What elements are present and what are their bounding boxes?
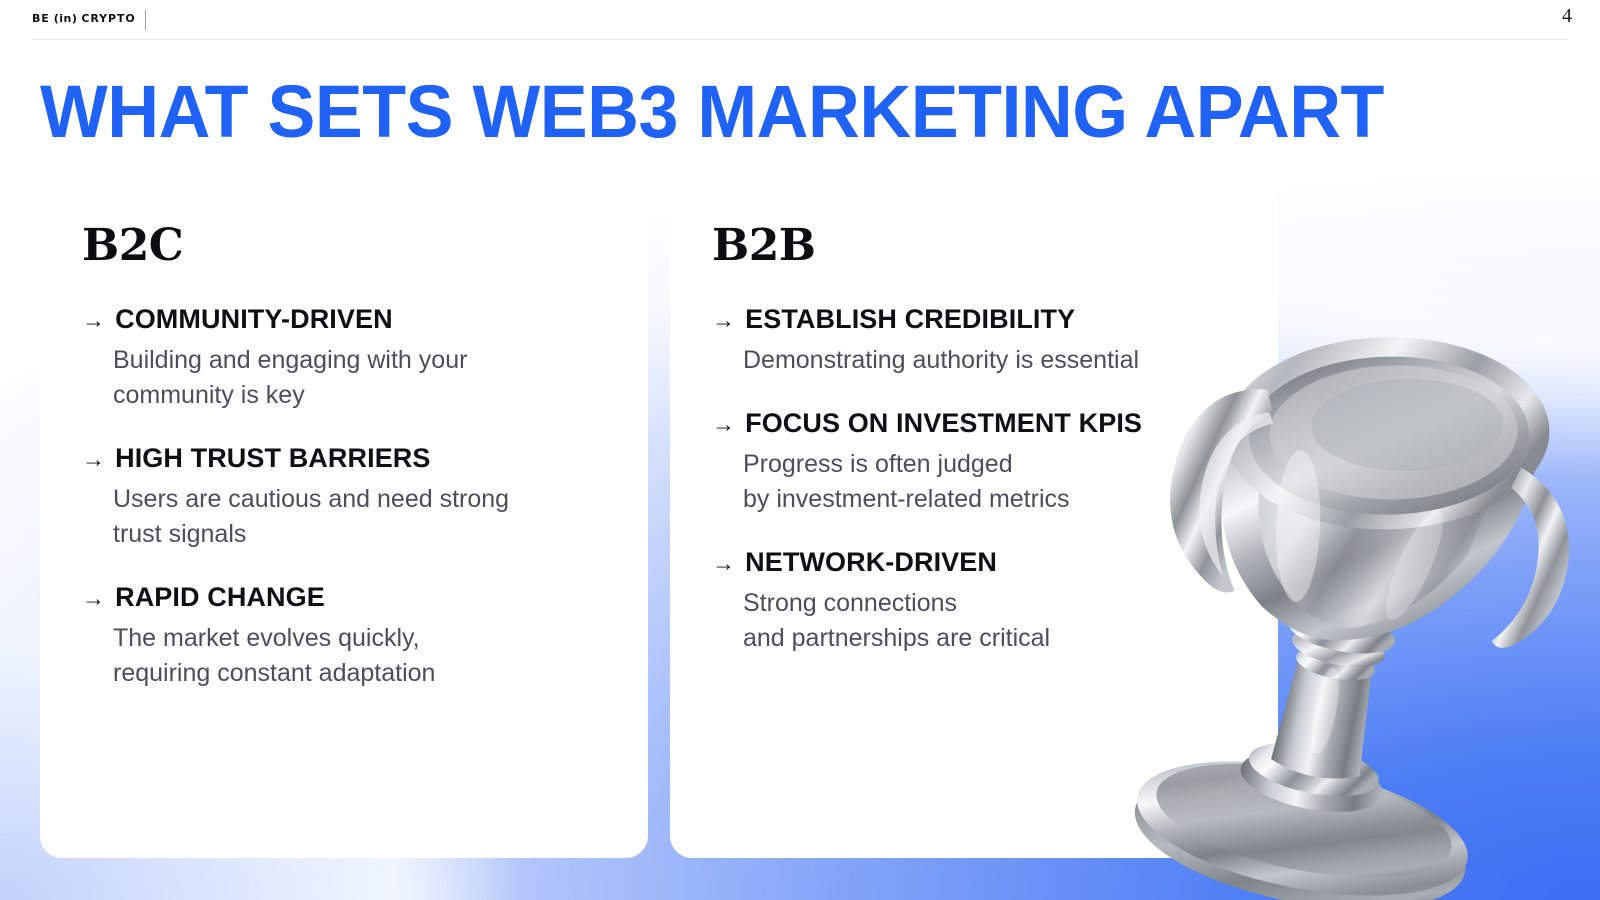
bullet-description: The market evolves quickly, requiring co… bbox=[113, 621, 606, 691]
bullet-label: FOCUS ON INVESTMENT KPIS bbox=[745, 406, 1142, 440]
page-title: WHAT SETS WEB3 MARKETING APART bbox=[40, 72, 1384, 152]
arrow-right-icon: → bbox=[712, 407, 735, 441]
slide-header: BE (in) CRYPTO 4 bbox=[0, 0, 1600, 40]
bullet-label: COMMUNITY-DRIVEN bbox=[115, 302, 393, 336]
arrow-right-icon: → bbox=[82, 442, 105, 476]
bullet-label: ESTABLISH CREDIBILITY bbox=[745, 302, 1075, 336]
bullet-label: HIGH TRUST BARRIERS bbox=[115, 441, 430, 475]
bullet-item: → FOCUS ON INVESTMENT KPIS Progress is o… bbox=[712, 406, 1236, 517]
arrow-right-icon: → bbox=[82, 303, 105, 337]
bullet-description: Strong connections and partnerships are … bbox=[743, 586, 1236, 656]
comparison-cards: B2C → COMMUNITY-DRIVEN Building and enga… bbox=[40, 178, 1278, 858]
logo-divider bbox=[145, 10, 146, 30]
bullet-label: NETWORK-DRIVEN bbox=[745, 545, 997, 579]
bullet-label: RAPID CHANGE bbox=[115, 580, 325, 614]
slide-canvas: BE (in) CRYPTO 4 WHAT SETS WEB3 MARKETIN… bbox=[0, 0, 1600, 900]
bullet-heading: → HIGH TRUST BARRIERS bbox=[82, 441, 606, 476]
bullet-heading: → FOCUS ON INVESTMENT KPIS bbox=[712, 406, 1236, 441]
page-number: 4 bbox=[1562, 5, 1572, 28]
arrow-right-icon: → bbox=[712, 303, 735, 337]
logo-text-crypto: CRYPTO bbox=[81, 12, 135, 25]
bullet-description: Building and engaging with your communit… bbox=[113, 343, 606, 413]
card-b2b: B2B → ESTABLISH CREDIBILITY Demonstratin… bbox=[670, 178, 1278, 858]
bullet-item: → RAPID CHANGE The market evolves quickl… bbox=[82, 580, 606, 691]
bullet-item: → NETWORK-DRIVEN Strong connections and … bbox=[712, 545, 1236, 656]
bullet-description: Users are cautious and need strong trust… bbox=[113, 482, 606, 552]
bullet-item: → COMMUNITY-DRIVEN Building and engaging… bbox=[82, 302, 606, 413]
card-heading: B2B bbox=[712, 222, 1236, 270]
card-heading: B2C bbox=[82, 222, 606, 270]
bullet-description: Progress is often judged by investment-r… bbox=[743, 447, 1236, 517]
bullet-heading: → COMMUNITY-DRIVEN bbox=[82, 302, 606, 337]
arrow-right-icon: → bbox=[712, 546, 735, 580]
card-b2c: B2C → COMMUNITY-DRIVEN Building and enga… bbox=[40, 178, 648, 858]
arrow-right-icon: → bbox=[82, 581, 105, 615]
bullet-item: → HIGH TRUST BARRIERS Users are cautious… bbox=[82, 441, 606, 552]
bullet-item: → ESTABLISH CREDIBILITY Demonstrating au… bbox=[712, 302, 1236, 378]
header-divider-line bbox=[32, 39, 1568, 40]
bullet-heading: → NETWORK-DRIVEN bbox=[712, 545, 1236, 580]
logo-text-in: (in) bbox=[54, 12, 78, 25]
bullet-heading: → ESTABLISH CREDIBILITY bbox=[712, 302, 1236, 337]
bullet-heading: → RAPID CHANGE bbox=[82, 580, 606, 615]
bullet-description: Demonstrating authority is essential bbox=[743, 343, 1236, 378]
logo-text-be: BE bbox=[32, 12, 50, 25]
brand-logo: BE (in) CRYPTO bbox=[32, 12, 136, 25]
